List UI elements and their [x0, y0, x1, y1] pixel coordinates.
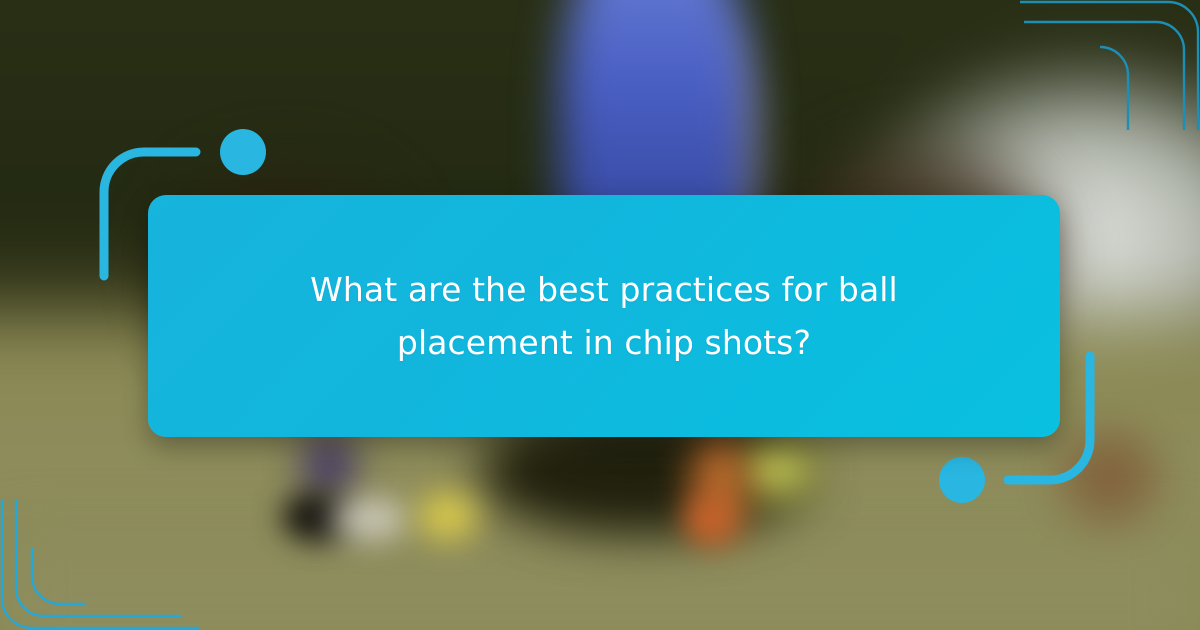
question-text: What are the best practices for ball pla…	[284, 263, 924, 370]
quote-card-graphic: What are the best practices for ball pla…	[0, 0, 1200, 630]
background-accent-yellow-right	[736, 440, 816, 500]
question-card: What are the best practices for ball pla…	[148, 195, 1060, 437]
background-accent-orange-lower	[686, 498, 732, 542]
background-sock-light	[330, 498, 408, 540]
background-accent-right	[1062, 432, 1157, 522]
background-ground-haze	[0, 540, 1200, 630]
background-accent-yellow	[418, 492, 478, 540]
dot-top-left-icon	[220, 129, 266, 175]
background-figure-purple	[300, 432, 358, 498]
dot-bottom-right-icon	[939, 457, 985, 503]
